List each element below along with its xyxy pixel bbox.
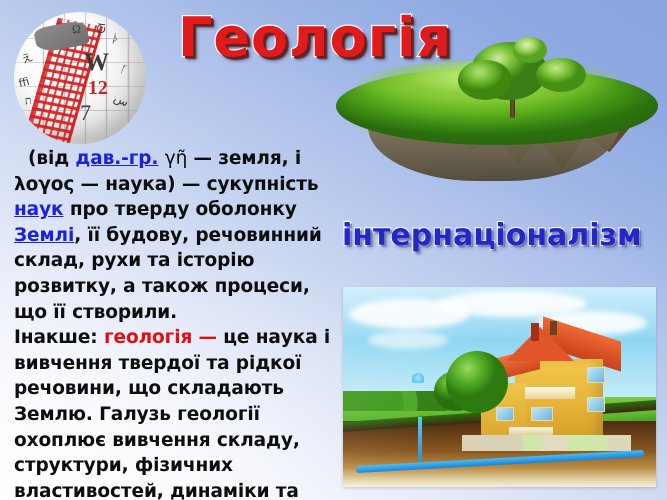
wikipedia-globe-logo: W 12 7 ᚦ ᚴ س え ﬃ ת Ω Ⴀ — [6, 8, 154, 148]
globe-glyph-h: Ⴀ — [95, 25, 106, 37]
well-head — [412, 373, 424, 383]
tree-canopy-top — [513, 37, 547, 63]
globe-glyph-g: Ω — [72, 22, 82, 35]
tree-canopy-right — [536, 58, 586, 92]
def-p1-mid1: — земля, і — [187, 148, 301, 169]
house-window — [496, 407, 514, 421]
cloud — [368, 331, 448, 349]
presentation-slide: W 12 7 ᚦ ᚴ س え ﬃ ת Ω Ⴀ Геологія інтернац… — [0, 0, 667, 500]
globe-glyph-w: W — [84, 50, 109, 75]
def-p1-mid2: — наука) — сукупність — [74, 174, 318, 195]
def-p1-mid3: про тверду оболонку — [63, 199, 296, 220]
globe-glyph-f: ת — [24, 96, 32, 108]
house-chimney-brown — [550, 321, 557, 335]
house-window — [531, 407, 553, 421]
globe-glyph-a: ᚦ — [110, 32, 120, 45]
garden-bushes — [462, 435, 631, 451]
house-window — [587, 397, 605, 412]
definition-paragraph-1: (від дав.-гр. γῆ — земля, і λογος — наук… — [14, 146, 344, 325]
def-p2-tail: це наука і вивчення твердої та рідкої ре… — [14, 327, 343, 500]
globe-glyph-7: 7 — [80, 102, 91, 124]
globe-glyph-12: 12 — [88, 78, 108, 98]
link-earth[interactable]: Землі — [14, 225, 74, 246]
definition-text-block: (від дав.-гр. γῆ — земля, і λογος — наук… — [14, 146, 344, 500]
garden-tree-upper — [446, 351, 508, 413]
greek-word-ge: γῆ — [165, 148, 187, 169]
def-p2-highlight: геологія — — [104, 327, 217, 348]
globe-sphere: W 12 7 ᚦ ᚴ س え ﬃ ת Ω Ⴀ — [14, 12, 146, 144]
house-window — [587, 367, 605, 383]
house-chimney-red — [531, 323, 539, 341]
def-p1-open: (від — [14, 148, 75, 169]
greek-word-logos: λογος — [14, 174, 74, 195]
link-sciences[interactable]: наук — [14, 199, 63, 220]
house-roof-gable — [506, 327, 574, 361]
keyword-internationalism: інтернаціоналізм — [342, 218, 642, 253]
globe-glyph-b: ᚴ — [118, 64, 128, 77]
house-groundwater-image — [343, 287, 656, 487]
link-ancient-greek[interactable]: дав.-гр. — [75, 148, 158, 169]
house-balcony — [525, 387, 575, 399]
well-shaft — [418, 417, 422, 461]
def-p2-open: Інакше: — [14, 327, 104, 348]
globe-glyph-d: え — [20, 53, 34, 67]
floating-island-image — [336, 28, 658, 206]
definition-paragraph-2: Інакше: геологія — це наука і вивчення т… — [14, 325, 344, 500]
globe-glyph-e: ﬃ — [18, 77, 31, 90]
